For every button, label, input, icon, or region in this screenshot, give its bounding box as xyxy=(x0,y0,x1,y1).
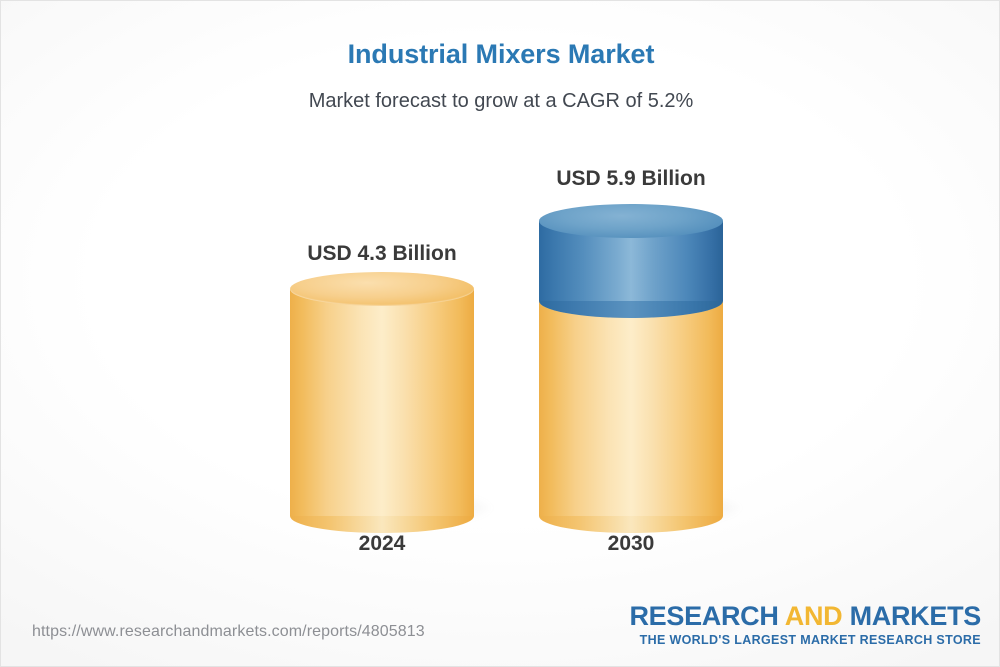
cylinder-top-cap xyxy=(290,272,474,306)
bar-segment-base-2024 xyxy=(290,204,474,534)
bar-category-label-2030: 2030 xyxy=(539,532,723,556)
bar-category-label-2024: 2024 xyxy=(290,532,474,556)
brand-logo-wordmark: RESEARCH AND MARKETS xyxy=(629,603,981,631)
brand-logo-word-markets: MARKETS xyxy=(850,601,981,631)
chart-canvas: Industrial Mixers Market Market forecast… xyxy=(0,0,1000,667)
brand-logo-tagline: THE WORLD'S LARGEST MARKET RESEARCH STOR… xyxy=(629,633,981,648)
source-url[interactable]: https://www.researchandmarkets.com/repor… xyxy=(32,623,425,641)
cylinder-top-cap xyxy=(539,204,723,238)
bar-value-label-2030: USD 5.9 Billion xyxy=(479,167,783,191)
brand-logo-word-research: RESEARCH xyxy=(629,601,778,631)
bar-segment-growth-2030 xyxy=(539,204,723,534)
chart-plot-area: USD 4.3 Billion 2024 USD 5.9 Billion xyxy=(1,1,1000,601)
bar-2030: USD 5.9 Billion 2030 xyxy=(539,204,723,534)
cylinder-body xyxy=(290,289,474,516)
brand-logo-word-and: AND xyxy=(785,601,843,631)
bar-2024: USD 4.3 Billion 2024 xyxy=(290,204,474,534)
brand-logo[interactable]: RESEARCH AND MARKETS THE WORLD'S LARGEST… xyxy=(629,603,981,648)
